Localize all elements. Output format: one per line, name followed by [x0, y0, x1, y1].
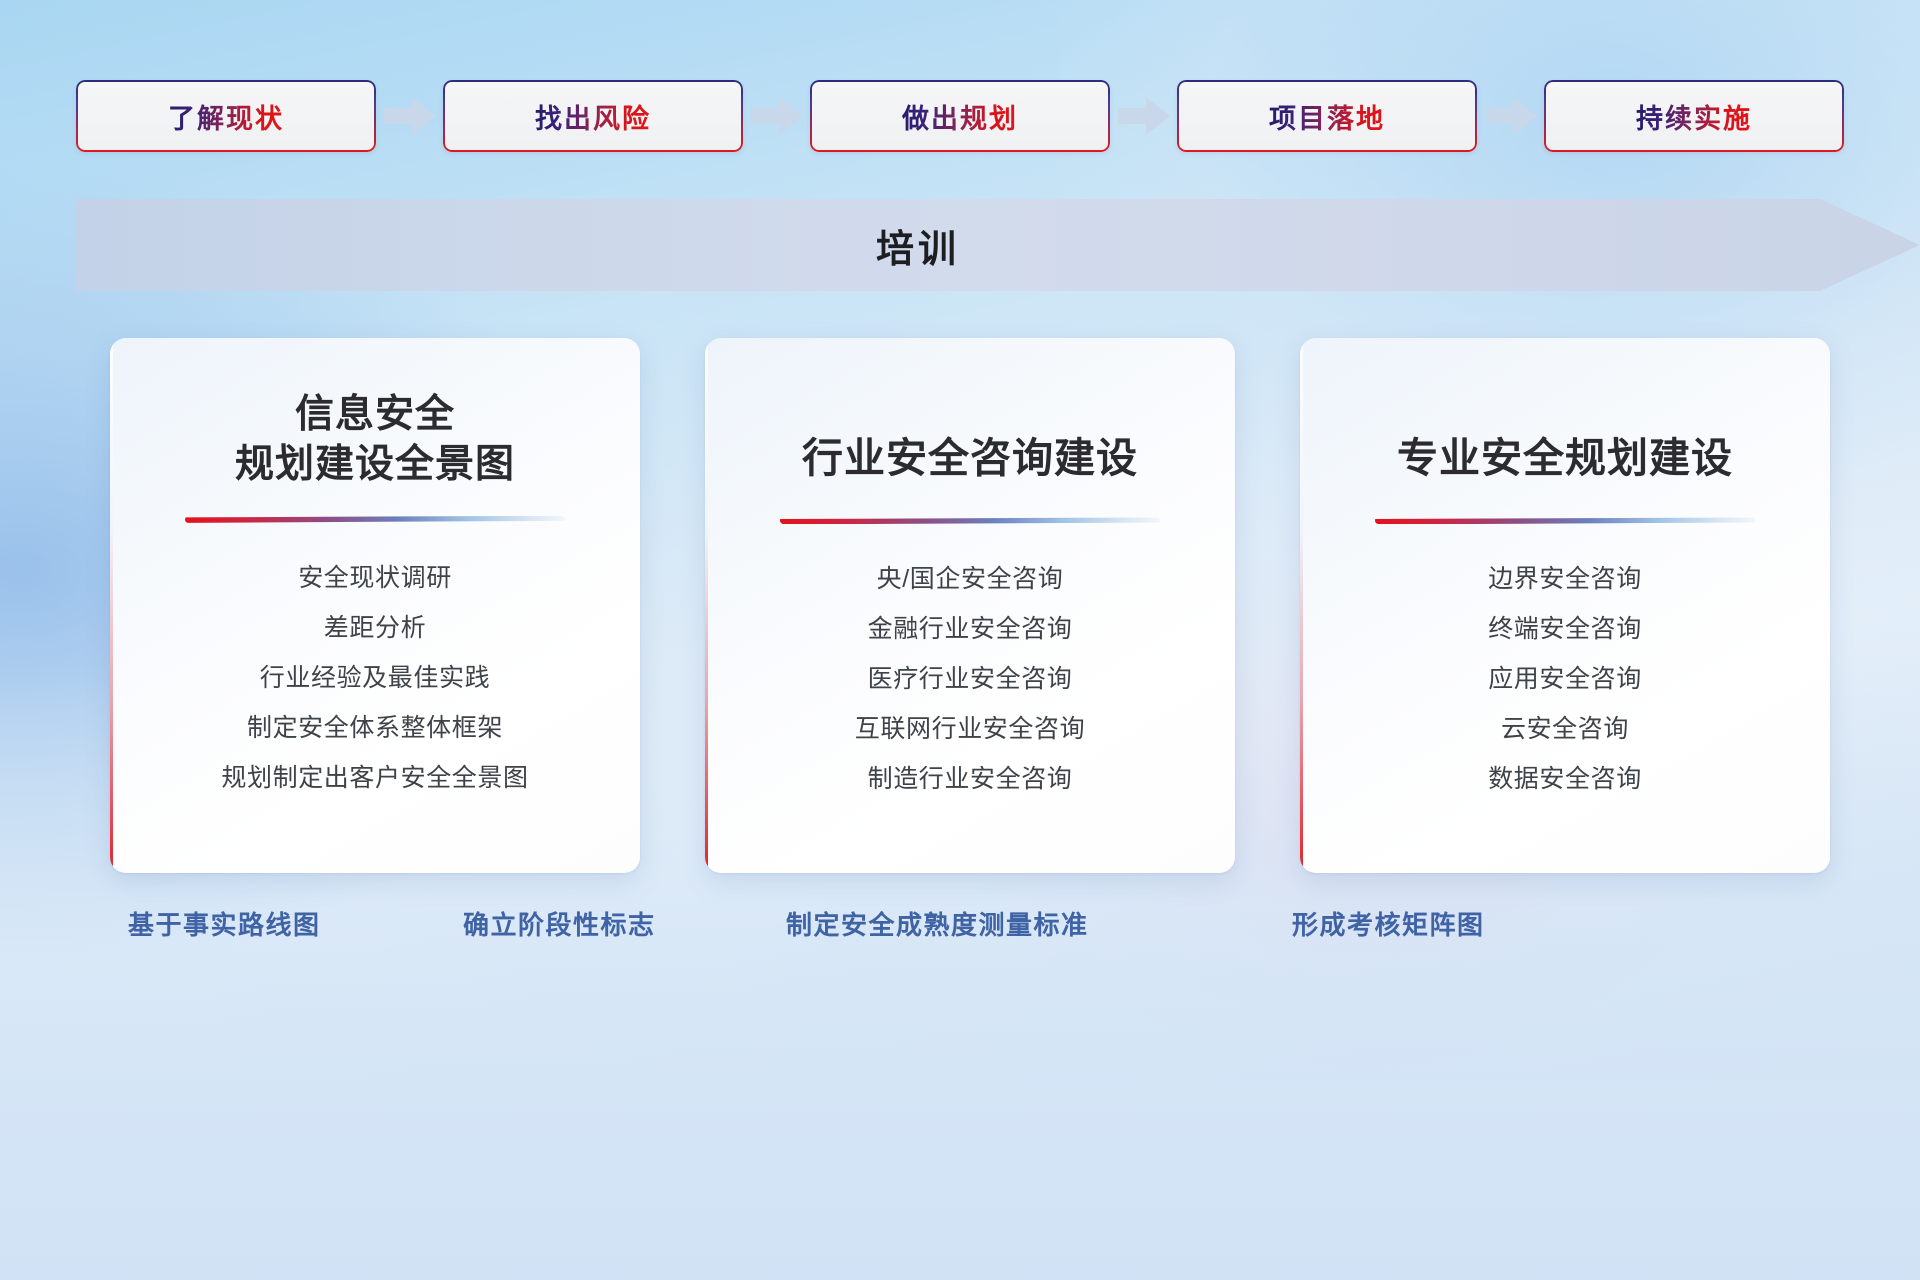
card-title-line: 专业安全规划建设 [1397, 432, 1733, 484]
arrow-right-icon [1477, 80, 1544, 152]
list-item: 终端安全咨询 [1488, 608, 1642, 650]
card-title-line: 规划建设全景图 [235, 440, 515, 490]
bottom-label-matrix: 形成考核矩阵图 [1292, 905, 1485, 942]
arrow-right-icon [1110, 80, 1177, 152]
list-item: 数据安全咨询 [1488, 758, 1642, 800]
banner-title: 培训 [76, 199, 1920, 291]
list-item: 制造行业安全咨询 [868, 758, 1073, 800]
bottom-label-milestone: 确立阶段性标志 [463, 905, 656, 942]
list-item: 央/国企安全咨询 [877, 558, 1064, 600]
list-item: 云安全咨询 [1501, 708, 1629, 750]
card-title: 信息安全 规划建设全景图 [235, 390, 515, 490]
card-divider [1375, 517, 1755, 524]
list-item: 规划制定出客户安全全景图 [221, 757, 528, 799]
arrow-right-icon [743, 80, 810, 152]
training-banner: 培训 [76, 199, 1920, 291]
card-panorama[interactable]: 信息安全 规划建设全景图 安全现状调研 差距分析 行业经验及最佳实践 制定安全体… [110, 338, 640, 873]
step-box-4[interactable]: 项目落地 [1177, 80, 1477, 152]
list-item: 医疗行业安全咨询 [868, 658, 1073, 700]
card-divider [780, 517, 1160, 524]
list-item: 应用安全咨询 [1488, 658, 1642, 700]
list-item: 差距分析 [324, 607, 426, 649]
card-title-line: 信息安全 [235, 390, 515, 440]
bottom-label-row: 基于事实路线图 确立阶段性标志 制定安全成熟度测量标准 形成考核矩阵图 [0, 905, 1920, 965]
list-item: 行业经验及最佳实践 [260, 657, 490, 699]
card-title: 专业安全规划建设 [1397, 432, 1733, 484]
step-label: 项目落地 [1269, 97, 1385, 136]
arrow-right-icon [376, 80, 443, 152]
step-box-2[interactable]: 找出风险 [443, 80, 743, 152]
list-item: 互联网行业安全咨询 [855, 708, 1085, 750]
step-box-3[interactable]: 做出规划 [810, 80, 1110, 152]
card-row: 信息安全 规划建设全景图 安全现状调研 差距分析 行业经验及最佳实践 制定安全体… [110, 338, 1870, 878]
list-item: 边界安全咨询 [1488, 558, 1642, 600]
card-list: 边界安全咨询 终端安全咨询 应用安全咨询 云安全咨询 数据安全咨询 [1488, 558, 1642, 800]
step-label: 了解现状 [168, 97, 284, 136]
bottom-label-roadmap: 基于事实路线图 [128, 905, 321, 942]
step-label: 找出风险 [535, 97, 651, 136]
card-industry-consulting[interactable]: 行业安全咨询建设 央/国企安全咨询 金融行业安全咨询 医疗行业安全咨询 互联网行… [705, 338, 1235, 873]
list-item: 安全现状调研 [298, 557, 452, 599]
step-label: 持续实施 [1636, 97, 1752, 136]
card-list: 央/国企安全咨询 金融行业安全咨询 医疗行业安全咨询 互联网行业安全咨询 制造行… [855, 558, 1085, 800]
step-box-5[interactable]: 持续实施 [1544, 80, 1844, 152]
card-title-line: 行业安全咨询建设 [802, 432, 1138, 484]
step-box-1[interactable]: 了解现状 [76, 80, 376, 152]
list-item: 金融行业安全咨询 [868, 608, 1073, 650]
card-professional-planning[interactable]: 专业安全规划建设 边界安全咨询 终端安全咨询 应用安全咨询 云安全咨询 数据安全… [1300, 338, 1830, 873]
card-title: 行业安全咨询建设 [802, 432, 1138, 484]
card-list: 安全现状调研 差距分析 行业经验及最佳实践 制定安全体系整体框架 规划制定出客户… [221, 557, 528, 799]
card-divider [185, 516, 565, 523]
process-step-row: 了解现状 找出风险 做出规划 项目落地 持续实施 [76, 78, 1844, 154]
bottom-label-maturity: 制定安全成熟度测量标准 [786, 905, 1089, 942]
step-label: 做出规划 [902, 97, 1018, 136]
list-item: 制定安全体系整体框架 [247, 707, 503, 749]
